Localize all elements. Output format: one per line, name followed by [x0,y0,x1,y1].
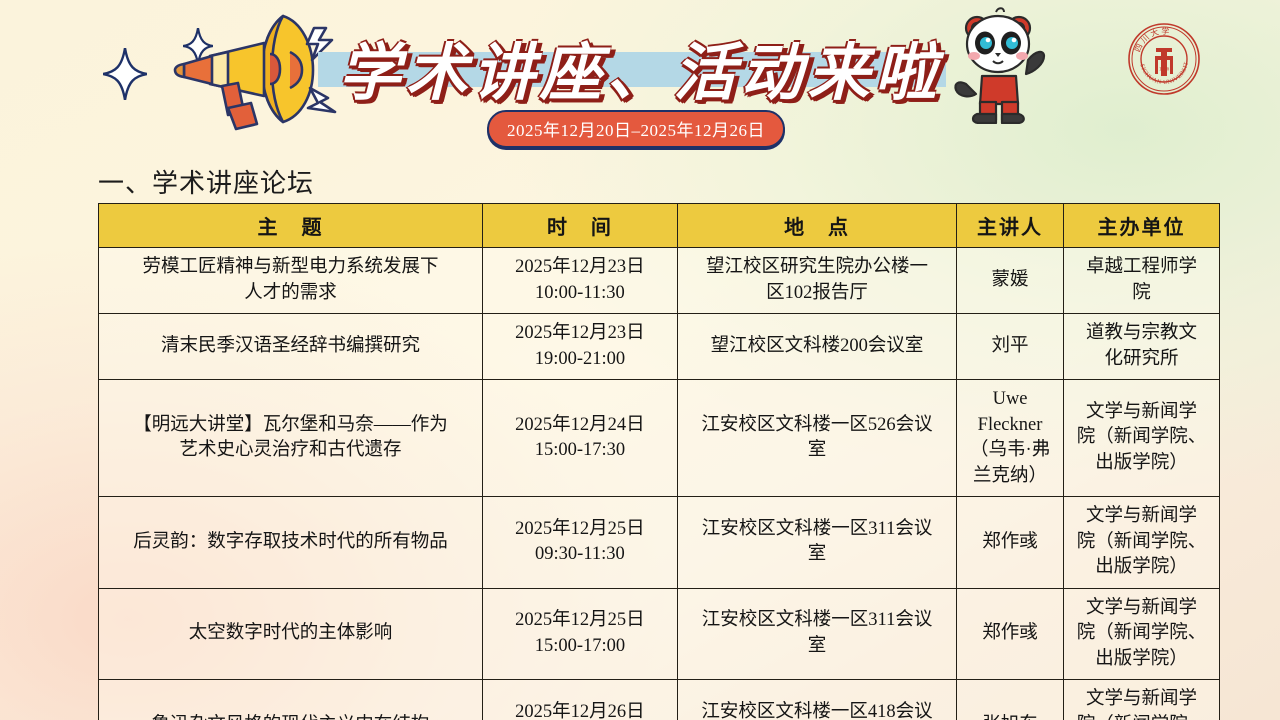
cell-topic: 清末民季汉语圣经辞书编撰研究 [99,314,483,380]
cell-speaker-line: 郑作彧 [963,530,1057,556]
date-range-badge: 2025年12月20日–2025年12月26日 [487,110,785,148]
cell-org-line: 文学与新闻学 [1070,687,1213,713]
cell-place: 江安校区文科楼一区418会议室 [677,680,956,720]
cell-time-line: 19:00-21:00 [489,347,671,373]
cell-time: 2025年12月23日10:00-11:30 [482,248,677,314]
cell-org-line: 院（新闻学院、 [1070,713,1213,720]
cell-place-line: 江安校区文科楼一区311会议 [684,608,950,634]
cell-time-line: 09:30-11:30 [489,542,671,568]
schedule-table: 主 题 时 间 地 点 主讲人 主办单位 劳模工匠精神与新型电力系统发展下人才的… [98,203,1220,720]
cell-speaker-line: Fleckner [963,413,1057,439]
cell-speaker-line: （乌韦·弗 [963,438,1057,464]
cell-org: 文学与新闻学院（新闻学院、出版学院） [1063,497,1219,589]
cell-speaker-line: 蒙媛 [963,268,1057,294]
cell-place-line: 室 [684,634,950,660]
cell-org-line: 院 [1070,281,1213,307]
cell-topic: 太空数字时代的主体影响 [99,588,483,680]
cell-speaker: 刘平 [957,314,1064,380]
table-row: 太空数字时代的主体影响2025年12月25日15:00-17:00江安校区文科楼… [99,588,1220,680]
cell-org: 道教与宗教文化研究所 [1063,314,1219,380]
cell-time-line: 10:00-11:30 [489,281,671,307]
cell-time: 2025年12月25日09:30-11:30 [482,497,677,589]
cell-topic: 【明远大讲堂】瓦尔堡和马奈——作为艺术史心灵治疗和古代遗存 [99,380,483,497]
cell-speaker-line: 郑作彧 [963,621,1057,647]
sichuan-university-emblem: 1896 四 川 大 学 SICHUAN UNIVERSITY [1127,22,1201,101]
megaphone-icon [150,8,340,138]
cell-place-line: 江安校区文科楼一区311会议 [684,517,950,543]
cell-time-line: 15:00-17:00 [489,634,671,660]
cell-place-line: 区102报告厅 [684,281,950,307]
cell-speaker-line: Uwe [963,387,1057,413]
cell-org-line: 文学与新闻学 [1070,504,1213,530]
cell-place-line: 室 [684,438,950,464]
cell-time-line: 2025年12月26日 [489,700,671,720]
cell-speaker: 郑作彧 [957,588,1064,680]
cell-place: 江安校区文科楼一区526会议室 [677,380,956,497]
table-row: 清末民季汉语圣经辞书编撰研究2025年12月23日19:00-21:00望江校区… [99,314,1220,380]
cell-time-line: 2025年12月25日 [489,517,671,543]
cell-time: 2025年12月25日15:00-17:00 [482,588,677,680]
cell-topic-line: 太空数字时代的主体影响 [105,621,476,647]
cell-time-line: 2025年12月25日 [489,608,671,634]
cell-time-line: 15:00-17:30 [489,438,671,464]
table-head: 主 题 时 间 地 点 主讲人 主办单位 [99,204,1220,248]
cell-topic-line: 清末民季汉语圣经辞书编撰研究 [105,334,476,360]
cell-place: 望江校区文科楼200会议室 [677,314,956,380]
cell-speaker: 郑作彧 [957,497,1064,589]
cell-topic: 鲁迅杂文风格的现代主义内在结构 [99,680,483,720]
cell-speaker: UweFleckner（乌韦·弗兰克纳） [957,380,1064,497]
cell-speaker: 张旭东 [957,680,1064,720]
cell-topic: 后灵韵：数字存取技术时代的所有物品 [99,497,483,589]
column-header-time: 时 间 [482,204,677,248]
cell-place: 望江校区研究生院办公楼一区102报告厅 [677,248,956,314]
table-row: 【明远大讲堂】瓦尔堡和马奈——作为艺术史心灵治疗和古代遗存2025年12月24日… [99,380,1220,497]
cell-topic-line: 人才的需求 [105,281,476,307]
table-row: 劳模工匠精神与新型电力系统发展下人才的需求2025年12月23日10:00-11… [99,248,1220,314]
cell-time: 2025年12月26日14:30-16:30 [482,680,677,720]
page-title: 学术讲座、活动来啦 [330,22,950,112]
table-row: 后灵韵：数字存取技术时代的所有物品2025年12月25日09:30-11:30江… [99,497,1220,589]
cell-topic: 劳模工匠精神与新型电力系统发展下人才的需求 [99,248,483,314]
cell-org: 文学与新闻学院（新闻学院、出版学院） [1063,680,1219,720]
schedule-table-wrapper: 主 题 时 间 地 点 主讲人 主办单位 劳模工匠精神与新型电力系统发展下人才的… [98,203,1220,720]
cell-org-line: 文学与新闻学 [1070,400,1213,426]
column-header-place: 地 点 [677,204,956,248]
cell-place-line: 望江校区研究生院办公楼一 [684,255,950,281]
cell-org-line: 院（新闻学院、 [1070,425,1213,451]
cell-org-line: 出版学院） [1070,451,1213,477]
cell-place-line: 江安校区文科楼一区526会议 [684,413,950,439]
cell-org: 文学与新闻学院（新闻学院、出版学院） [1063,588,1219,680]
cell-speaker-line: 张旭东 [963,713,1057,720]
table-header-row: 主 题 时 间 地 点 主讲人 主办单位 [99,204,1220,248]
cell-org-line: 文学与新闻学 [1070,596,1213,622]
cell-place-line: 室 [684,542,950,568]
cell-org-line: 院（新闻学院、 [1070,621,1213,647]
cell-org-line: 出版学院） [1070,555,1213,581]
cell-place-line: 江安校区文科楼一区418会议 [684,700,950,720]
panda-mascot [952,6,1047,129]
cell-org-line: 道教与宗教文 [1070,321,1213,347]
cell-speaker-line: 兰克纳） [963,464,1057,490]
cell-time-line: 2025年12月23日 [489,321,671,347]
cell-topic-line: 劳模工匠精神与新型电力系统发展下 [105,255,476,281]
sparkle-icon [103,48,147,100]
cell-speaker-line: 刘平 [963,334,1057,360]
cell-topic-line: 鲁迅杂文风格的现代主义内在结构 [105,713,476,720]
cell-time: 2025年12月24日15:00-17:30 [482,380,677,497]
poster-header: 学术讲座、活动来啦 2025年12月20日–2025年12月26日 [0,0,1280,155]
column-header-org: 主办单位 [1063,204,1219,248]
column-header-speaker: 主讲人 [957,204,1064,248]
cell-topic-line: 艺术史心灵治疗和古代遗存 [105,438,476,464]
svg-text:1896: 1896 [1159,67,1170,73]
cell-org-line: 卓越工程师学 [1070,255,1213,281]
section-heading: 一、学术讲座论坛 [98,163,314,200]
cell-topic-line: 后灵韵：数字存取技术时代的所有物品 [105,530,476,556]
cell-time: 2025年12月23日19:00-21:00 [482,314,677,380]
cell-org: 文学与新闻学院（新闻学院、出版学院） [1063,380,1219,497]
cell-speaker: 蒙媛 [957,248,1064,314]
cell-time-line: 2025年12月24日 [489,413,671,439]
cell-place: 江安校区文科楼一区311会议室 [677,497,956,589]
cell-topic-line: 【明远大讲堂】瓦尔堡和马奈——作为 [105,413,476,439]
cell-org-line: 出版学院） [1070,647,1213,673]
cell-place-line: 望江校区文科楼200会议室 [684,334,950,360]
poster-page: 学术讲座、活动来啦 2025年12月20日–2025年12月26日 [0,0,1280,720]
cell-place: 江安校区文科楼一区311会议室 [677,588,956,680]
table-body: 劳模工匠精神与新型电力系统发展下人才的需求2025年12月23日10:00-11… [99,248,1220,720]
column-header-topic: 主 题 [99,204,483,248]
cell-org-line: 化研究所 [1070,347,1213,373]
cell-time-line: 2025年12月23日 [489,255,671,281]
table-row: 鲁迅杂文风格的现代主义内在结构2025年12月26日14:30-16:30江安校… [99,680,1220,720]
cell-org-line: 院（新闻学院、 [1070,530,1213,556]
cell-org: 卓越工程师学院 [1063,248,1219,314]
